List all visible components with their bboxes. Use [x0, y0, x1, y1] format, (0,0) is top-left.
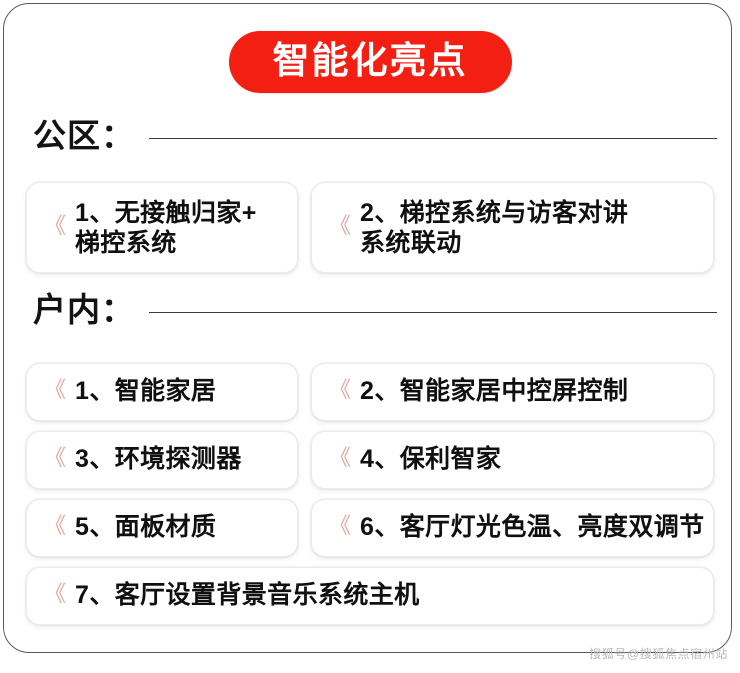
- section-heading-indoor-label: 户内：: [33, 292, 135, 328]
- card-indoor-5[interactable]: 《 5、面板材质: [26, 499, 298, 557]
- card-indoor-6[interactable]: 《 6、客厅灯光色温、亮度双调节: [311, 499, 714, 557]
- card-public-2-label: 2、梯控系统与访客对讲 系统联动: [360, 198, 713, 258]
- card-indoor-7-label: 7、客厅设置背景音乐系统主机: [75, 581, 713, 611]
- card-public-1-label: 1、无接触归家+ 梯控系统: [75, 198, 297, 258]
- page-content: 智能化亮点 公区： 《 1、无接触归家+ 梯控系统 《 2、梯控系统与访客对讲 …: [0, 0, 740, 673]
- double-chevron-icon: 《: [44, 584, 65, 606]
- double-chevron-icon: 《: [329, 216, 350, 238]
- card-indoor-7[interactable]: 《 7、客厅设置背景音乐系统主机: [26, 567, 714, 625]
- card-indoor-5-label: 5、面板材质: [75, 513, 297, 543]
- double-chevron-icon: 《: [44, 448, 65, 470]
- infographic-page: 智能化亮点 公区： 《 1、无接触归家+ 梯控系统 《 2、梯控系统与访客对讲 …: [0, 0, 740, 673]
- card-indoor-1-label: 1、智能家居: [75, 377, 297, 407]
- card-indoor-6-label: 6、客厅灯光色温、亮度双调节: [360, 513, 713, 543]
- card-indoor-4-label: 4、保利智家: [360, 445, 713, 475]
- card-indoor-1[interactable]: 《 1、智能家居: [26, 363, 298, 421]
- section-heading-public-area: 公区：: [33, 118, 717, 154]
- double-chevron-icon: 《: [329, 516, 350, 538]
- section-heading-public-area-label: 公区：: [33, 118, 135, 154]
- card-indoor-3-label: 3、环境探测器: [75, 445, 297, 475]
- card-public-2[interactable]: 《 2、梯控系统与访客对讲 系统联动: [311, 182, 714, 273]
- section-heading-rule: [149, 138, 717, 139]
- title-banner: 智能化亮点: [229, 31, 512, 93]
- title-banner-wrapper: 智能化亮点: [0, 31, 740, 93]
- card-indoor-4[interactable]: 《 4、保利智家: [311, 431, 714, 489]
- watermark: 搜狐号@搜狐焦点宿州站: [589, 645, 728, 662]
- section-heading-indoor: 户内：: [33, 292, 717, 328]
- double-chevron-icon: 《: [329, 380, 350, 402]
- card-indoor-2-label: 2、智能家居中控屏控制: [360, 377, 713, 407]
- double-chevron-icon: 《: [44, 216, 65, 238]
- double-chevron-icon: 《: [44, 380, 65, 402]
- card-indoor-2[interactable]: 《 2、智能家居中控屏控制: [311, 363, 714, 421]
- section-heading-rule: [149, 312, 717, 313]
- double-chevron-icon: 《: [44, 516, 65, 538]
- card-public-1[interactable]: 《 1、无接触归家+ 梯控系统: [26, 182, 298, 273]
- card-indoor-3[interactable]: 《 3、环境探测器: [26, 431, 298, 489]
- double-chevron-icon: 《: [329, 448, 350, 470]
